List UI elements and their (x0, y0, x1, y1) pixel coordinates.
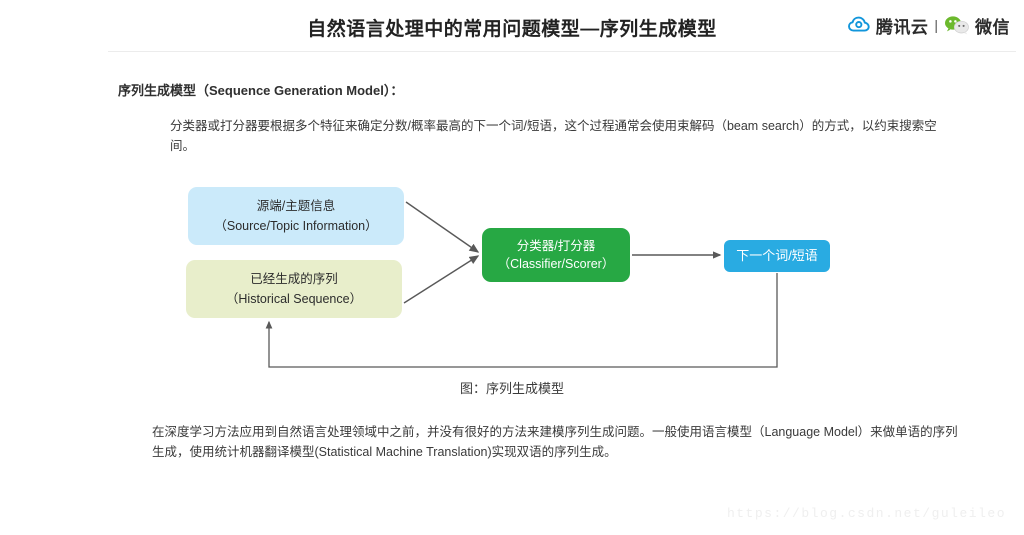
diagram-connectors (0, 170, 1024, 400)
figure-caption: 图：序列生成模型 (0, 378, 1024, 397)
brand-separator: | (933, 17, 939, 33)
edge-history-to-classifier (404, 256, 478, 303)
header-divider (108, 51, 1016, 52)
page-header: 自然语言处理中的常用问题模型—序列生成模型 腾讯云 | 微信 (0, 0, 1024, 52)
diagram-node-classifier: 分类器/打分器 （Classifier/Scorer） (482, 228, 630, 282)
node-history-subtitle: （Historical Sequence） (226, 289, 362, 309)
source-watermark: https://blog.csdn.net/guleileo (727, 506, 1006, 521)
node-history-title: 已经生成的序列 (250, 269, 338, 289)
node-output-title: 下一个词/短语 (736, 247, 818, 265)
brand-wechat-label: 微信 (975, 13, 1010, 38)
node-classifier-title: 分类器/打分器 (517, 237, 595, 255)
section-heading: 序列生成模型（Sequence Generation Model）： (118, 80, 403, 99)
diagram-node-output: 下一个词/短语 (724, 240, 830, 272)
diagram-node-history: 已经生成的序列 （Historical Sequence） (186, 260, 402, 318)
brand-logo-group: 腾讯云 | 微信 (847, 12, 1010, 38)
brand-cloud-label: 腾讯云 (876, 13, 929, 38)
tencent-cloud-icon (847, 15, 871, 35)
bottom-paragraph: 在深度学习方法应用到自然语言处理领域中之前，并没有很好的方法来建模序列生成问题。… (152, 422, 964, 462)
node-source-title: 源端/主题信息 (257, 196, 335, 216)
edge-source-to-classifier (406, 202, 478, 252)
intro-paragraph: 分类器或打分器要根据多个特征来确定分数/概率最高的下一个词/短语，这个过程通常会… (170, 116, 960, 156)
node-classifier-subtitle: （Classifier/Scorer） (498, 255, 615, 273)
sequence-generation-diagram: 源端/主题信息 （Source/Topic Information） 已经生成的… (0, 170, 1024, 400)
wechat-icon (944, 15, 970, 35)
node-source-subtitle: （Source/Topic Information） (214, 216, 377, 236)
diagram-node-source: 源端/主题信息 （Source/Topic Information） (188, 187, 404, 245)
